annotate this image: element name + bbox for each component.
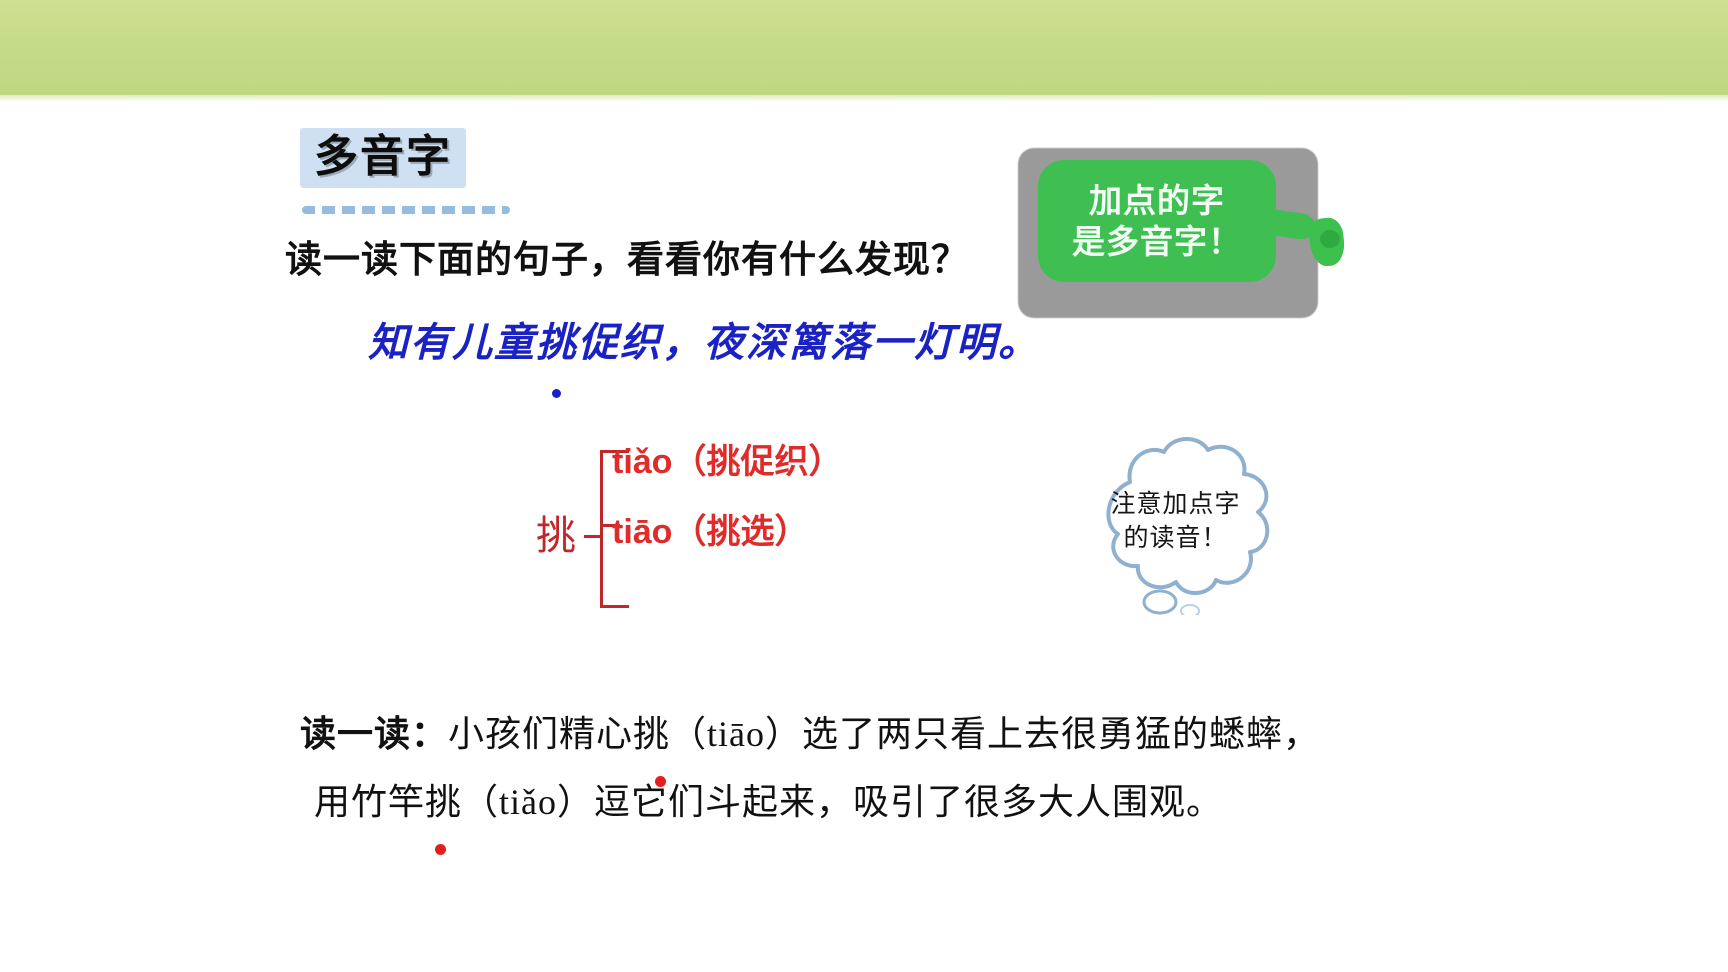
polyphone-pinyin-1: tiǎo (612, 443, 672, 481)
cloud-callout-line-2: 的读音！ (1068, 522, 1283, 556)
prompt-text: 读一读下面的句子，看看你有什么发现？ (285, 237, 969, 283)
polyphone-word-2: （挑选） (672, 514, 808, 551)
exercise-line-1-text: 小孩们精心挑（tiāo）选了两只看上去很勇猛的蟋蟀， (448, 714, 1320, 754)
exercise-block: 读一读：小孩们精心挑（tiāo）选了两只看上去很勇猛的蟋蟀， 用竹竿挑（tiǎo… (300, 700, 1500, 836)
green-callout-line-2: 是多音字！ (1072, 221, 1242, 262)
top-green-band (0, 0, 1728, 95)
polyphone-reading-1: tiǎo（挑促织） (612, 442, 842, 483)
polyphone-reading-2: tiāo（挑选） (612, 512, 808, 553)
green-callout-pin-knob (1320, 230, 1340, 248)
poem-emphasis-dot (552, 389, 561, 398)
poem-sentence: 知有儿童挑促织，夜深篱落一灯明。 (368, 318, 1040, 368)
slide-canvas: 多音字 读一读下面的句子，看看你有什么发现？ 加点的字 是多音字！ 知有儿童挑促… (0, 0, 1728, 972)
cloud-callout-text: 注意加点字 的读音！ (1068, 488, 1283, 556)
green-callout-line-1: 加点的字 (1089, 180, 1225, 221)
section-title-chip: 多音字 (300, 128, 466, 188)
green-callout-box: 加点的字 是多音字！ (1038, 160, 1276, 282)
polyphone-pinyin-2: tiāo (612, 513, 672, 551)
title-dashed-underline (302, 206, 510, 214)
exercise-emphasis-dot-2 (435, 844, 446, 855)
polyphone-group: 挑 tiǎo（挑促织） tiāo（挑选） (530, 430, 950, 615)
exercise-label: 读一读： (300, 713, 448, 754)
exercise-line-2: 用竹竿挑（tiǎo）逗它们斗起来，吸引了很多大人围观。 (300, 768, 1500, 836)
top-band-fade (0, 95, 1728, 102)
polyphone-word-1: （挑促织） (672, 444, 842, 481)
section-title-wrap: 多音字 (300, 128, 720, 188)
polyphone-character: 挑 (536, 514, 576, 558)
cloud-callout-line-1: 注意加点字 (1068, 488, 1283, 522)
cloud-callout: 注意加点字 的读音！ (1068, 430, 1283, 615)
exercise-line-1: 读一读：小孩们精心挑（tiāo）选了两只看上去很勇猛的蟋蟀， (300, 700, 1500, 768)
page-title: 多音字 (314, 132, 452, 181)
exercise-emphasis-dot-1 (655, 776, 666, 787)
